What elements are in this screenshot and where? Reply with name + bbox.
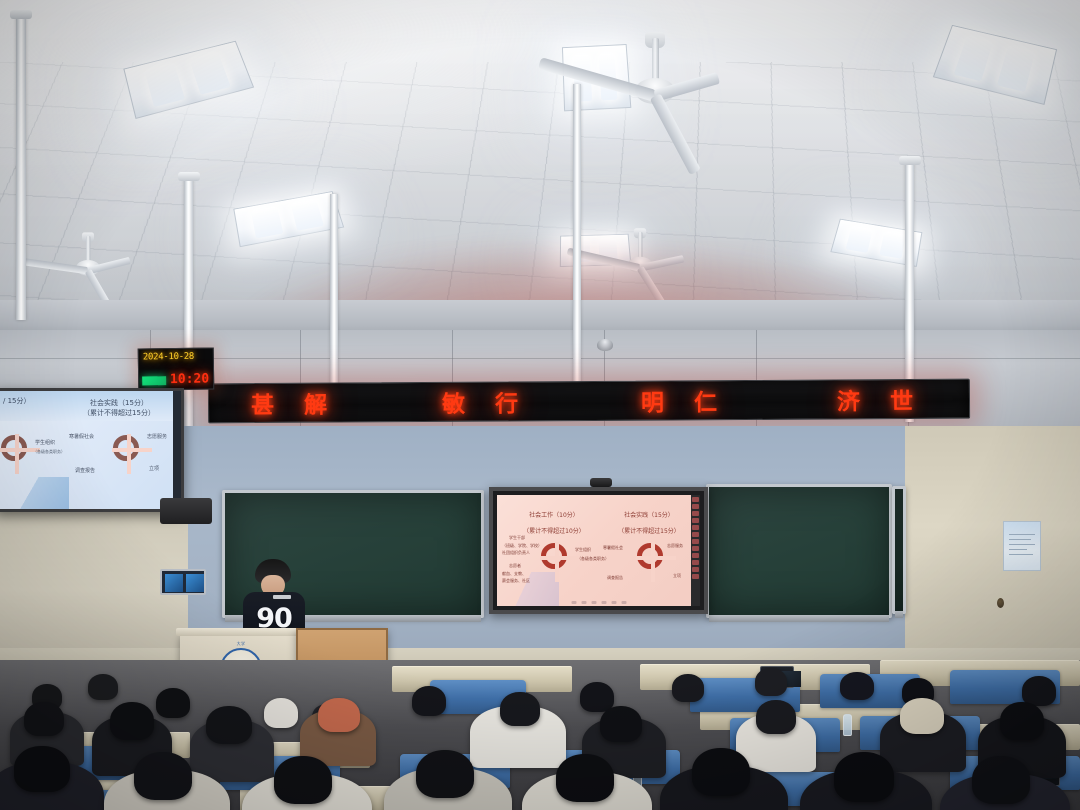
projection-screen[interactable]: 社会工作（10分） （累计不得超过10分） 社会实践（15分） （累计不得超过1… — [489, 487, 708, 614]
slide-content: 社会工作（10分） （累计不得超过10分） 社会实践（15分） （累计不得超过1… — [497, 495, 700, 606]
side-monitor-label-c: 寒暑假社会 — [69, 433, 94, 440]
side-monitor-subtitle: （累计不得超过15分） — [83, 409, 155, 417]
projector-camera-bar — [590, 478, 612, 487]
slide-left-title-line2: （累计不得超过10分） — [523, 528, 585, 535]
slide-control-bar[interactable] — [571, 601, 626, 604]
slide-label-l4: 志愿者 — [509, 563, 521, 569]
slide-label-r4: 立项 — [673, 573, 681, 579]
audience-head — [274, 756, 332, 804]
led-word-4: 济 世 — [837, 382, 924, 417]
side-monitor-label-d: 志愿服务 — [147, 433, 167, 440]
slide-left-title-line1: 社会工作（10分） — [529, 512, 579, 519]
slide-label-r1: 寒暑假社会 — [603, 545, 623, 551]
audience-head — [900, 698, 944, 734]
led-date: 2024-10-28 — [143, 352, 194, 363]
led-clock-panel: 2024-10-28 10:20 — [138, 347, 215, 390]
dome-security-camera — [597, 339, 613, 351]
side-monitor-label-e: 调查报告 — [75, 467, 95, 474]
side-monitor-donut-right — [113, 435, 139, 461]
blackboard-right — [706, 484, 892, 618]
slide-label-l-rightsub: （各级各类职务） — [577, 556, 609, 562]
pole-cap — [10, 10, 32, 19]
podium-wordmark: 大学 — [237, 641, 246, 647]
audience-head — [756, 700, 796, 734]
slide-label-l-right: 学生组织 — [575, 547, 591, 553]
side-monitor-label-a: 学生组织 — [35, 439, 55, 446]
door-knob[interactable] — [997, 598, 1004, 608]
slide-right-title: 社会实践（15分） （累计不得超过15分） — [603, 504, 695, 536]
audience-head — [318, 698, 360, 732]
slide-right-title-line2: （累计不得超过15分） — [618, 528, 680, 535]
support-pole — [16, 14, 26, 320]
audience-head — [412, 686, 446, 716]
audience-head — [24, 702, 64, 736]
wall-control-monitor[interactable] — [160, 569, 206, 595]
led-word-1: 甚 解 — [251, 386, 338, 421]
support-pole — [330, 194, 338, 412]
audience-head — [672, 674, 704, 702]
side-monitor-label-f: 立项 — [149, 465, 159, 472]
audience-head — [834, 752, 894, 802]
slide-label-l6: 赛会服务、社区 — [502, 578, 530, 584]
led-green-indicator — [142, 376, 166, 385]
side-monitor-strip — [173, 391, 181, 509]
audience-head — [692, 748, 750, 796]
audience-head — [840, 672, 874, 700]
light-tube — [144, 63, 184, 107]
audience-head — [416, 750, 474, 798]
slide-label-l3: 社团组织负责人 — [502, 550, 530, 556]
ceiling — [0, 0, 1080, 330]
light-tube — [189, 52, 230, 94]
side-monitor-decoration — [0, 477, 69, 509]
audience-head — [14, 746, 70, 792]
slide-right-title-line1: 社会实践（15分） — [624, 512, 674, 519]
audience-head — [156, 688, 190, 718]
slide-label-r2: 志愿服务 — [667, 543, 683, 549]
pole-cap — [899, 156, 921, 165]
lecture-hall-photo: 甚 解 敏 行 明 仁 济 世 2024-10-28 10:20 社会工作（10… — [0, 0, 1080, 810]
audience-head — [88, 674, 118, 700]
slide-side-strip — [691, 495, 700, 606]
audience-head — [972, 756, 1030, 804]
slide-label-l1: 学生干部 — [509, 535, 525, 541]
audience-head — [110, 702, 154, 740]
side-monitor-label-b: （各级各类职务） — [33, 449, 65, 455]
pole-cap — [178, 172, 200, 181]
blackboard-far-right — [892, 486, 906, 614]
side-monitor-partial-text: 分）/ 15分） — [0, 397, 45, 407]
led-word-3: 明 仁 — [641, 383, 728, 418]
slide-label-r3: 调查报告 — [607, 575, 623, 581]
audience-head — [1000, 702, 1044, 740]
audience-area — [0, 660, 1080, 810]
slide-label-l2: （班级、学院、学校） — [502, 543, 542, 549]
led-word-2: 敏 行 — [442, 384, 529, 419]
wall-poster — [1003, 521, 1041, 571]
side-monitor-donut-left — [1, 435, 27, 461]
support-pole — [573, 84, 581, 404]
light-tube — [953, 35, 993, 81]
audience-head — [264, 698, 298, 728]
left-hanging-display[interactable]: 社会实践（15分） （累计不得超过15分） 分）/ 15分） 学生组织 （各级各… — [0, 388, 184, 512]
audience-head — [755, 668, 787, 696]
side-monitor-title: 社会实践（15分） — [90, 399, 148, 407]
audience-head — [206, 706, 252, 744]
light-tube — [996, 45, 1035, 92]
led-time: 10:20 — [170, 372, 209, 388]
chalk-stick — [797, 616, 827, 621]
slide-left-title: 社会工作（10分） （累计不得超过10分） — [511, 504, 597, 536]
podium-top-surface — [176, 628, 306, 636]
audience-head — [600, 706, 642, 742]
jersey-tag — [273, 595, 291, 599]
projector-mount — [160, 498, 212, 524]
led-motto-banner: 甚 解 敏 行 明 仁 济 世 — [208, 379, 970, 424]
right-beige-wall — [905, 426, 1080, 676]
screen-bezel: 社会工作（10分） （累计不得超过10分） 社会实践（15分） （累计不得超过1… — [493, 491, 704, 610]
audience-head — [134, 752, 192, 800]
audience-head — [556, 754, 614, 802]
audience-head — [500, 692, 540, 726]
slide-donut-right — [637, 543, 663, 569]
slide-label-l5: 献血、支教、 — [502, 571, 526, 577]
water-bottle — [843, 714, 852, 736]
slide-donut-left — [541, 543, 567, 569]
